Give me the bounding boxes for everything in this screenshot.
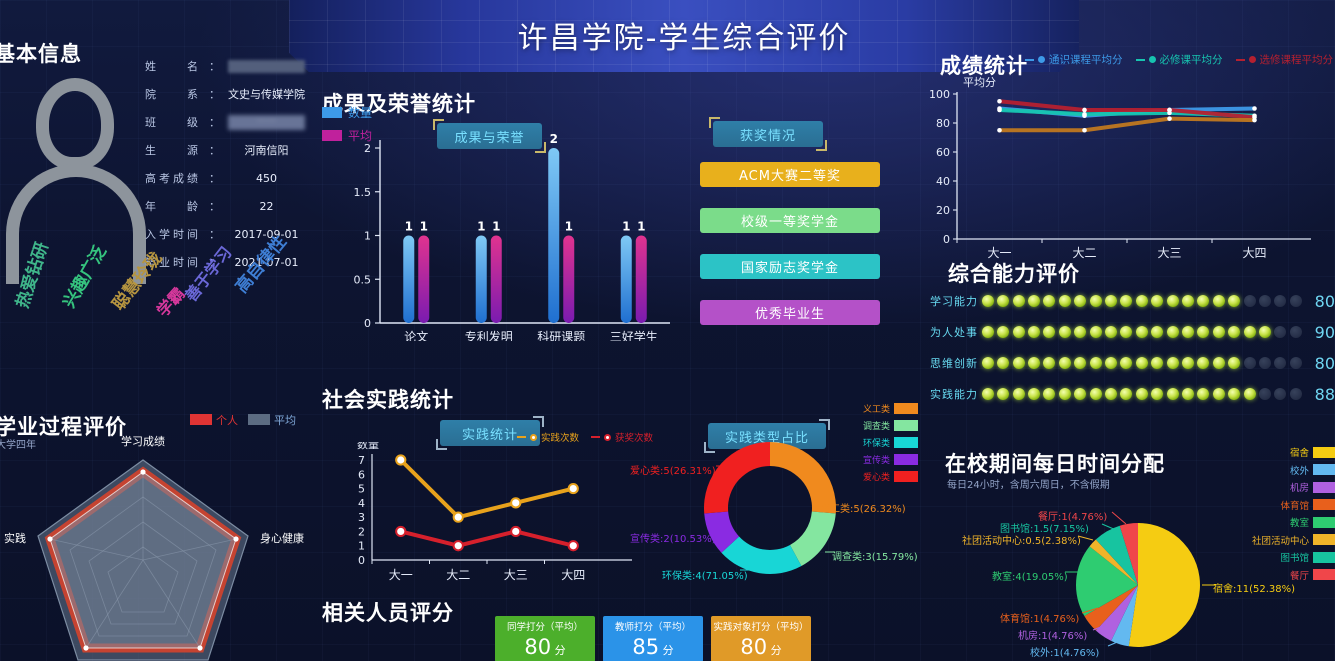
peer-score-unit: 分 <box>659 644 674 657</box>
timepie-data-label: 教室:4(19.05%) <box>992 568 1068 583</box>
ability-label: 为人处事 <box>930 324 982 340</box>
ability-dot <box>1105 357 1117 369</box>
profile-info-label: 入学时间 <box>145 226 209 242</box>
timepie-data-label: 校外:1(4.76%) <box>1030 644 1099 659</box>
ability-dot <box>1028 357 1040 369</box>
ability-dot <box>1013 357 1025 369</box>
achievements-bar-value: 1 <box>420 220 428 234</box>
ability-dot <box>1197 295 1209 307</box>
legend-dot-icon <box>530 434 537 441</box>
achievements-ytick: 2 <box>364 142 371 155</box>
achievements-bar <box>418 236 429 324</box>
ability-dot <box>1290 295 1302 307</box>
legend-dash-icon <box>517 436 526 438</box>
grades-point <box>1082 112 1087 117</box>
practice-ytick: 6 <box>358 468 365 481</box>
ability-dot <box>1167 326 1179 338</box>
word-cloud: 热爱钻研兴趣广泛聪慧玲珑学霸善于学习高自律性 <box>0 285 300 395</box>
grades-ytick: 20 <box>936 204 950 217</box>
profile-info-label: 姓 名 <box>145 58 209 74</box>
ability-dot <box>1290 357 1302 369</box>
award-item[interactable]: ACM大赛二等奖 <box>700 162 880 187</box>
peer-score-card: 实践对象打分（平均）80 分 <box>711 616 811 661</box>
ability-dot <box>1074 357 1086 369</box>
ability-dots <box>982 326 1302 338</box>
ability-dot <box>997 357 1009 369</box>
dashboard-root: 许昌学院-学生综合评价 基本信息 姓 名：院 系：文史与传媒学院班 级：——生 … <box>0 0 1335 661</box>
ability-dot <box>1043 357 1055 369</box>
timepie-leader-line <box>1112 512 1126 524</box>
grades-ytick: 100 <box>929 88 950 101</box>
timepie-svg <box>930 440 1335 661</box>
awards-list: ACM大赛二等奖校级一等奖学金国家励志奖学金优秀毕业生 <box>700 162 880 346</box>
award-item[interactable]: 国家励志奖学金 <box>700 254 880 279</box>
ability-dot <box>1290 388 1302 400</box>
avatar-head-icon <box>36 78 114 170</box>
ability-dot <box>982 357 994 369</box>
achievements-bar <box>403 236 414 324</box>
profile-section-title: 基本信息 <box>0 38 82 68</box>
grades-point <box>1252 118 1257 123</box>
practice-point <box>511 527 520 536</box>
profile-info-colon: ： <box>209 170 220 186</box>
profile-info-value: 450 <box>228 172 305 185</box>
ability-dot <box>1213 388 1225 400</box>
practice-line <box>401 460 574 517</box>
ability-dot <box>1259 295 1271 307</box>
legend-dash-icon <box>591 436 600 438</box>
award-item[interactable]: 校级一等奖学金 <box>700 208 880 233</box>
practice-ytick: 5 <box>358 483 365 496</box>
ability-dot <box>1136 295 1148 307</box>
peer-score-card: 同学打分（平均）80 分 <box>495 616 595 661</box>
profile-info-value: 文史与传媒学院 <box>228 86 305 102</box>
profile-info-row: 院 系：文史与传媒学院 <box>145 80 305 108</box>
grades-category: 大三 <box>1157 246 1181 259</box>
achievements-bar <box>563 236 574 324</box>
ability-row: 学习能力80 <box>930 288 1335 314</box>
timepie-data-label: 宿舍:11(52.38%) <box>1213 580 1295 595</box>
achievements-bar-value: 1 <box>622 220 630 234</box>
achievements-svg: 00.511.5211论文11专利发明21科研课题11三好学生 <box>322 91 682 341</box>
ability-dot <box>1028 388 1040 400</box>
ability-dot <box>1028 295 1040 307</box>
ability-dot <box>1120 326 1132 338</box>
achievements-category: 专利发明 <box>465 329 513 341</box>
ability-dot <box>982 388 994 400</box>
ability-dot <box>1274 326 1286 338</box>
practice-type-data-label: 环保类:4(71.05%) <box>662 567 748 582</box>
ability-row: 为人处事90 <box>930 319 1335 345</box>
ability-dot <box>1105 295 1117 307</box>
ability-dot <box>1074 295 1086 307</box>
peer-score-caption: 教师打分（平均） <box>615 619 691 633</box>
ability-label: 学习能力 <box>930 293 982 309</box>
ability-dot <box>1182 388 1194 400</box>
ability-dot <box>1074 388 1086 400</box>
ability-dots <box>982 357 1302 369</box>
practice-ytick: 3 <box>358 511 365 524</box>
ability-dot <box>1213 295 1225 307</box>
grades-point <box>1167 108 1172 113</box>
ability-dot <box>997 295 1009 307</box>
achievements-chart: 成果与荣誉 数量 平均 00.511.5211论文11专利发明21科研课题11三… <box>322 86 682 341</box>
achievements-bar-value: 1 <box>477 220 485 234</box>
profile-info-row: 班 级：—— <box>145 108 305 136</box>
profile-info-label: 班 级 <box>145 114 209 130</box>
practice-point <box>454 541 463 550</box>
grades-point <box>1082 108 1087 113</box>
timepie-data-label: 机房:1(4.76%) <box>1018 627 1087 642</box>
achievements-bar <box>636 236 647 324</box>
ability-dot <box>1182 357 1194 369</box>
ability-section-title: 综合能力评价 <box>948 258 1080 288</box>
practice-point <box>396 527 405 536</box>
timepie-data-label: 餐厅:1(4.76%) <box>1038 508 1107 523</box>
ability-dot <box>1244 326 1256 338</box>
timepie-leader-line <box>1102 524 1116 530</box>
timepie-slice[interactable] <box>1129 523 1200 647</box>
profile-info-label: 年 龄 <box>145 198 209 214</box>
ability-dot <box>1274 388 1286 400</box>
ability-label: 思维创新 <box>930 355 982 371</box>
ability-score: 80 <box>1302 354 1335 373</box>
ability-score: 80 <box>1302 292 1335 311</box>
ability-dot <box>1213 326 1225 338</box>
ability-dot <box>982 295 994 307</box>
ability-dot <box>1182 295 1194 307</box>
radar-label-4: 实践 <box>4 531 26 545</box>
practice-category: 大四 <box>561 568 585 582</box>
ability-dot <box>1090 295 1102 307</box>
grades-ylabel: 平均分 <box>963 76 996 89</box>
peer-score-unit: 分 <box>551 644 566 657</box>
ability-dot <box>1197 357 1209 369</box>
radar-label-0: 学习成绩 <box>121 434 165 448</box>
grades-ytick: 0 <box>943 233 950 246</box>
achievements-bar-value: 1 <box>492 220 500 234</box>
profile-info-label: 生 源 <box>145 142 209 158</box>
grades-point <box>997 108 1002 113</box>
peer-score-value: 80 分 <box>524 635 565 659</box>
grades-point <box>997 99 1002 104</box>
ability-score: 88 <box>1302 385 1335 404</box>
practice-category: 大二 <box>446 568 470 582</box>
achievements-bar <box>491 236 502 324</box>
grades-line <box>1000 119 1255 131</box>
ability-dot <box>1244 295 1256 307</box>
achievements-ytick: 0.5 <box>354 273 372 286</box>
ability-dot <box>1244 388 1256 400</box>
achievements-bar <box>476 236 487 324</box>
achievements-bar <box>621 236 632 324</box>
ability-label: 实践能力 <box>930 386 982 402</box>
ability-dot <box>1090 388 1102 400</box>
peer-score-value: 80 分 <box>740 635 781 659</box>
practice-ytick: 0 <box>358 554 365 567</box>
profile-info-colon: ： <box>209 198 220 214</box>
peer-score-card: 教师打分（平均）85 分 <box>603 616 703 661</box>
practice-ylabel: 数量 <box>357 442 379 451</box>
practice-type-slice[interactable] <box>704 442 770 513</box>
ability-dot <box>1059 295 1071 307</box>
profile-info-colon: ： <box>209 114 220 130</box>
ability-dot <box>1290 326 1302 338</box>
ability-dot <box>997 326 1009 338</box>
profile-info-label: 高考成绩 <box>145 170 209 186</box>
profile-info-row: 高考成绩：450 <box>145 164 305 192</box>
ability-dot <box>1167 295 1179 307</box>
grades-ytick: 60 <box>936 146 950 159</box>
practice-ytick: 7 <box>358 454 365 467</box>
ability-dot <box>1151 295 1163 307</box>
ability-dot <box>1259 326 1271 338</box>
legend-dot-icon <box>604 434 611 441</box>
practice-chart: 实践统计 实践次数获奖次数 数量01234567大一大二大三大四 <box>322 382 662 597</box>
grades-svg: 平均分020406080100大一大二大三大四 <box>905 59 1335 259</box>
achievements-category: 论文 <box>404 329 428 341</box>
ability-dot <box>1074 326 1086 338</box>
profile-info-value: 22 <box>228 200 305 213</box>
achievements-bar <box>548 148 559 323</box>
profile-info-colon: ： <box>209 142 220 158</box>
ability-dot <box>1059 357 1071 369</box>
ability-row: 思维创新80 <box>930 350 1335 376</box>
radar-chart: 个人 平均 <box>0 408 310 661</box>
ability-dot <box>1120 388 1132 400</box>
grades-point <box>1082 128 1087 133</box>
profile-info-value: —— <box>228 115 305 130</box>
grades-point <box>1167 116 1172 121</box>
profile-info-label: 院 系 <box>145 86 209 102</box>
ability-dot <box>1228 357 1240 369</box>
grades-point <box>997 128 1002 133</box>
ability-dot <box>1028 326 1040 338</box>
ability-dots <box>982 295 1302 307</box>
ability-dot <box>1274 295 1286 307</box>
achievements-bar-value: 1 <box>405 220 413 234</box>
grades-ytick: 80 <box>936 117 950 130</box>
practice-category: 大三 <box>504 568 528 582</box>
ability-dot <box>997 388 1009 400</box>
ability-row: 实践能力88 <box>930 381 1335 407</box>
ability-dot <box>1013 295 1025 307</box>
profile-info-row: 生 源：河南信阳 <box>145 136 305 164</box>
ability-dot <box>1120 357 1132 369</box>
ability-dot <box>1043 295 1055 307</box>
practice-line <box>401 531 574 545</box>
grades-point <box>1252 106 1257 111</box>
ability-dot <box>1151 388 1163 400</box>
ability-dot <box>1136 326 1148 338</box>
ability-dot <box>1043 388 1055 400</box>
ability-dot <box>1197 388 1209 400</box>
profile-info-colon: ： <box>209 86 220 102</box>
grades-ytick: 40 <box>936 175 950 188</box>
ability-dot <box>1136 357 1148 369</box>
profile-info-row: 年 龄：22 <box>145 192 305 220</box>
ability-dot <box>1228 388 1240 400</box>
ability-dot <box>1244 357 1256 369</box>
ability-dot <box>1105 326 1117 338</box>
practice-point <box>569 484 578 493</box>
ability-dot <box>1167 357 1179 369</box>
achievements-bar-value: 2 <box>550 132 558 146</box>
award-item[interactable]: 优秀毕业生 <box>700 300 880 325</box>
profile-info-row: 姓 名： <box>145 52 305 80</box>
radar-label-1: 身心健康 <box>260 531 304 545</box>
practice-type-data-label: 调查类:3(15.79%) <box>832 548 918 563</box>
ability-dot <box>1043 326 1055 338</box>
awards-pill[interactable]: 获奖情况 <box>713 121 823 147</box>
ability-dots <box>982 388 1302 400</box>
practice-point <box>396 455 405 464</box>
practice-ytick: 2 <box>358 525 365 538</box>
practice-type-data-label: 爱心类:5(26.31%) <box>630 462 716 477</box>
practice-point <box>569 541 578 550</box>
ability-dot <box>1167 388 1179 400</box>
ability-dot <box>1059 326 1071 338</box>
timepie-chart: 宿舍校外机房体育馆教室社团活动中心图书馆餐厅 宿舍:11(52.38%)校外:1… <box>930 440 1335 661</box>
ability-dot <box>1228 295 1240 307</box>
ability-dot <box>1151 357 1163 369</box>
profile-info-value: 河南信阳 <box>228 142 305 158</box>
ability-list: 学习能力80为人处事90思维创新80实践能力88 <box>930 288 1335 438</box>
ability-dot <box>1090 326 1102 338</box>
timepie-data-label: 体育馆:1(4.76%) <box>1000 610 1079 625</box>
peer-scores-section-title: 相关人员评分 <box>322 597 454 627</box>
ability-dot <box>1120 295 1132 307</box>
page-title: 许昌学院-学生综合评价 <box>518 13 851 57</box>
profile-info-colon: ： <box>209 226 220 242</box>
grades-category: 大四 <box>1242 246 1266 259</box>
achievements-category: 三好学生 <box>610 329 658 341</box>
ability-dot <box>1151 326 1163 338</box>
ability-dot <box>1259 357 1271 369</box>
ability-dot <box>1013 326 1025 338</box>
ability-dot <box>1182 326 1194 338</box>
ability-dot <box>1090 357 1102 369</box>
practice-point <box>454 513 463 522</box>
practice-type-data-label: 宣传类:2(10.53%) <box>630 530 716 545</box>
peer-score-value: 85 分 <box>632 635 673 659</box>
ability-dot <box>1259 388 1271 400</box>
achievements-ytick: 1 <box>364 230 371 243</box>
achievements-bar-value: 1 <box>565 220 573 234</box>
achievements-bar-value: 1 <box>637 220 645 234</box>
radar-svg: 学习成绩 身心健康 课堂表现 生活规律 实践 <box>0 422 310 661</box>
profile-info-colon: ： <box>209 58 220 74</box>
peer-score-caption: 实践对象打分（平均） <box>713 619 808 633</box>
practice-svg: 数量01234567大一大二大三大四 <box>322 442 662 602</box>
ability-dot <box>1136 388 1148 400</box>
ability-dot <box>1013 388 1025 400</box>
grades-chart: 通识课程平均分必修课平均分选修课程平均分第二课堂平均分 平均分020406080… <box>905 44 1335 259</box>
achievements-category: 科研课题 <box>537 330 585 341</box>
peer-score-unit: 分 <box>767 644 782 657</box>
practice-ytick: 4 <box>358 497 365 510</box>
profile-info-value <box>228 60 305 73</box>
practice-type-chart: 义工类调查类环保类宣传类爱心类 义工类:5(26.32%)调查类:3(15.79… <box>620 400 920 600</box>
ability-dot <box>1213 357 1225 369</box>
practice-point <box>511 498 520 507</box>
peer-score-caption: 同学打分（平均） <box>507 619 583 633</box>
peer-score-cards: 同学打分（平均）80 分教师打分（平均）85 分实践对象打分（平均）80 分 <box>495 616 811 661</box>
practice-ytick: 1 <box>358 540 365 553</box>
achievements-ytick: 1.5 <box>354 186 372 199</box>
ability-dot <box>1197 326 1209 338</box>
ability-dot <box>1059 388 1071 400</box>
ability-score: 90 <box>1302 323 1335 342</box>
achievements-ytick: 0 <box>364 317 371 330</box>
ability-dot <box>1105 388 1117 400</box>
practice-type-data-label: 义工类:5(26.32%) <box>820 500 906 515</box>
ability-dot <box>982 326 994 338</box>
practice-category: 大一 <box>389 568 413 582</box>
ability-dot <box>1274 357 1286 369</box>
ability-dot <box>1228 326 1240 338</box>
